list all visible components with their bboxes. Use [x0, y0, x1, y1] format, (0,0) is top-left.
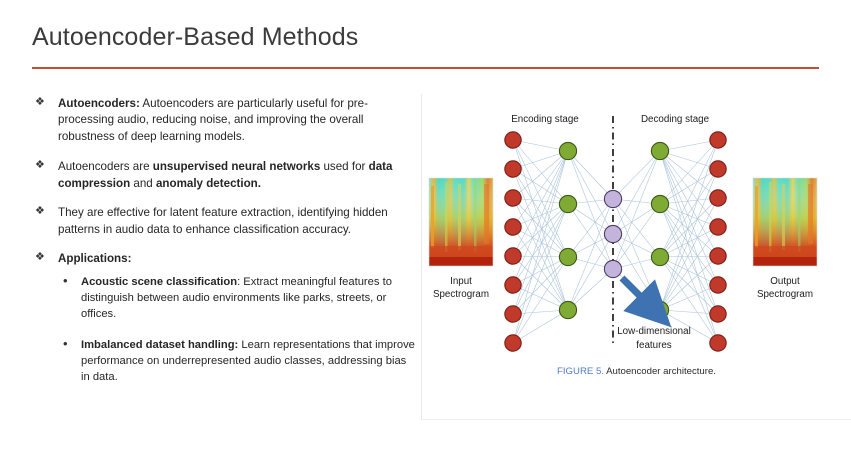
input-layer-nodes: [505, 132, 521, 351]
encoding-stage-label: Encoding stage: [511, 114, 579, 125]
input-spectrogram-label-line1: Input: [450, 276, 472, 287]
list-item: ❖ Autoencoders are unsupervised neural n…: [32, 159, 417, 192]
bottleneck-nodes: [604, 190, 621, 277]
page-title: Autoencoder-Based Methods: [32, 23, 358, 52]
bullet-marker-icon: ❖: [35, 204, 45, 220]
bottleneck-label-line1: Low-dimensional: [617, 326, 691, 337]
input-spectrogram-label-line2: Spectrogram: [433, 289, 489, 300]
bullet-text-bold: Autoencoders:: [58, 97, 140, 110]
sub-bullet-text: Imbalanced dataset handling: Learn repre…: [81, 339, 415, 383]
list-item: • Imbalanced dataset handling: Learn rep…: [59, 337, 417, 385]
sub-bullet-marker-icon: •: [63, 337, 68, 351]
bullet-text-bold: anomaly detection.: [156, 177, 261, 190]
bullet-text-bold: Applications:: [58, 252, 131, 265]
sub-bullet-text-bold: Imbalanced dataset handling:: [81, 339, 238, 351]
sub-bullet-text-bold: Acoustic scene classification: [81, 276, 237, 288]
bullet-marker-icon: ❖: [35, 250, 45, 266]
sub-bullet-marker-icon: •: [63, 274, 68, 288]
bullet-text-plain: used for: [320, 160, 368, 173]
bullet-text: Autoencoders are unsupervised neural net…: [58, 160, 392, 189]
bullet-list: ❖ Autoencoders: Autoencoders are particu…: [32, 96, 417, 400]
list-item: ❖ Autoencoders: Autoencoders are particu…: [32, 96, 417, 145]
bullet-text-plain: Autoencoders are: [58, 160, 153, 173]
sub-bullet-text: Acoustic scene classification: Extract m…: [81, 276, 392, 320]
bottleneck-label-line2: features: [636, 340, 672, 351]
input-spectrogram-image: [429, 178, 493, 266]
bullet-text-bold: unsupervised neural networks: [153, 160, 321, 173]
decoding-stage-label: Decoding stage: [641, 114, 710, 125]
bottleneck-arrow-icon: [622, 278, 650, 306]
output-spectrogram-label-line1: Output: [770, 276, 800, 287]
list-item-applications: ❖ Applications:: [32, 251, 417, 267]
bullet-text: They are effective for latent feature ex…: [58, 206, 388, 235]
figure-caption-text: Autoencoder architecture.: [604, 366, 716, 377]
figure-number: FIGURE 5.: [557, 366, 604, 377]
list-item: • Acoustic scene classification: Extract…: [59, 274, 417, 322]
sub-bullet-list: • Acoustic scene classification: Extract…: [32, 274, 417, 386]
autoencoder-diagram: Input Spectrogram Output Spectrogram: [422, 94, 851, 394]
bullet-marker-icon: ❖: [35, 95, 45, 111]
output-spectrogram-image: [753, 178, 817, 266]
list-item: ❖ They are effective for latent feature …: [32, 205, 417, 238]
figure-caption: FIGURE 5. Autoencoder architecture.: [422, 366, 851, 377]
output-layer-nodes: [710, 132, 726, 351]
figure-panel: Input Spectrogram Output Spectrogram: [421, 94, 851, 420]
bullet-text-plain: and: [130, 177, 156, 190]
bullet-marker-icon: ❖: [35, 158, 45, 174]
output-spectrogram-label-line2: Spectrogram: [757, 289, 813, 300]
title-accent-rule: [32, 67, 819, 69]
bullet-text: Autoencoders: Autoencoders are particula…: [58, 97, 368, 143]
